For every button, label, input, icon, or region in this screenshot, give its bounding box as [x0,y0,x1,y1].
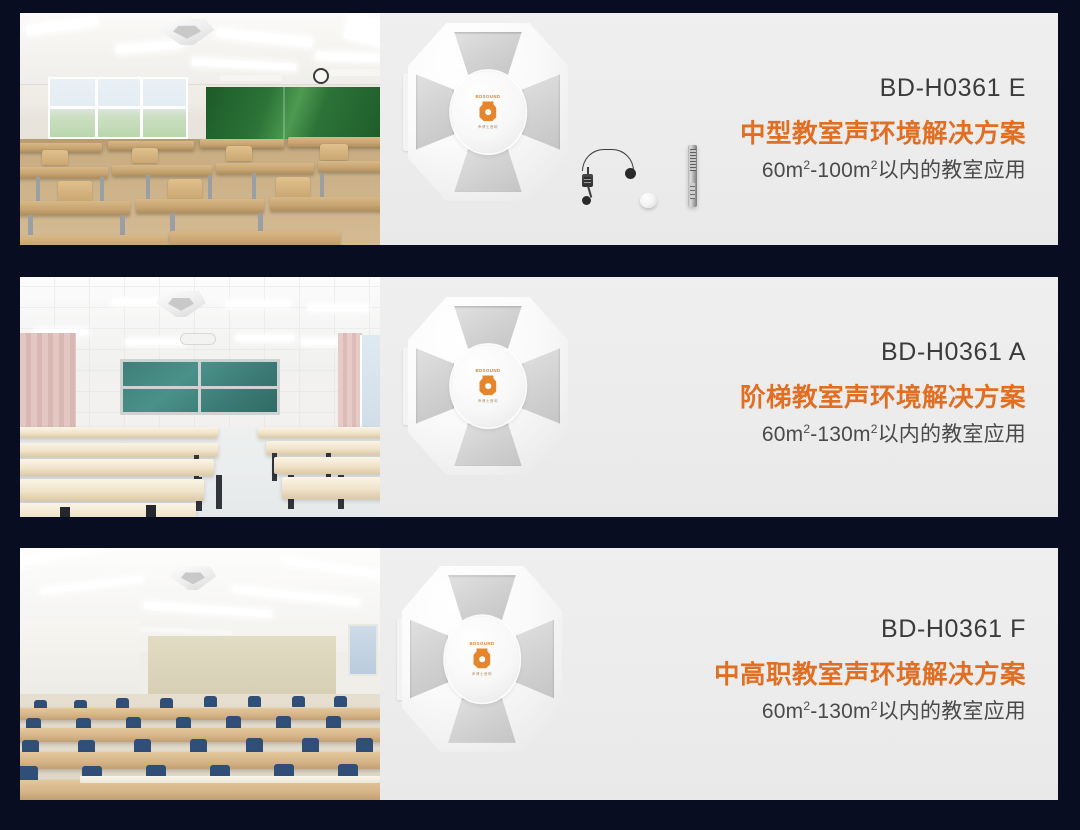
sup-4: 2 [871,422,878,436]
bdsound-speaker-product-e: BDSOUND 声博士音响 [408,23,568,201]
text-block-e: BD-H0361 E 中型教室声环境解决方案 60m2-100m2以内的教室应用 [740,75,1026,183]
speaker-center-badge: BDSOUND 声博士音响 [451,71,525,153]
area-to-a: -130m [810,423,871,446]
area-to-f: -130m [810,700,871,723]
product-card-panel-a[interactable]: BDSOUND 声博士音响 [20,277,1058,517]
headline-e: 中型教室声环境解决方案 [740,120,1026,149]
product-lineup-page: BDSOUND 声博士音响 BD-H0361 E 中型教室声环境解决方案 [0,0,1080,830]
brand-logo-sub: 声博士音响 [478,399,498,404]
model-number-e: BD-H0361 E [740,75,1026,103]
accessory-group-e [576,141,746,219]
area-from-a: 60m [762,423,803,446]
bdsound-speaker-product-a: BDSOUND 声博士音响 [408,297,568,475]
speaker-center-badge: BDSOUND 声博士音响 [451,345,525,427]
model-number-a: BD-H0361 A [740,339,1026,367]
area-from-e: 60m [762,159,803,182]
classroom-photo-auditorium [20,548,380,800]
subline-f: 60m2-130m2以内的教室应用 [714,699,1026,724]
product-card-panel-f[interactable]: BDSOUND 声博士音响 [20,548,1058,800]
bdsound-bell-logo-icon [480,102,497,122]
model-number-f: BD-H0361 F [714,616,1026,644]
handheld-wireless-microphone-icon [688,145,697,207]
brand-logo-text: BDSOUND [476,369,501,374]
brand-logo-text: BDSOUND [470,641,495,646]
headset-microphone-icon [576,147,638,193]
brand-logo-text: BDSOUND [476,95,501,100]
front-wall [148,636,336,698]
headline-f: 中高职教室声环境解决方案 [714,661,1026,690]
classroom-window [48,77,188,139]
area-suffix-f: 以内的教室应用 [878,700,1026,723]
ceiling-vent [180,333,216,345]
speaker-center-badge: BDSOUND 声博士音响 [445,616,519,702]
side-window [348,624,378,676]
bdsound-bell-logo-icon [480,376,497,396]
headline-a: 阶梯教室声环境解决方案 [740,384,1026,413]
bdsound-speaker-product-f: BDSOUND 声博士音响 [402,566,562,752]
panel-content-e: BDSOUND 声博士音响 BD-H0361 E 中型教室声环境解决方案 [380,13,1058,245]
area-to-e: -100m [810,159,871,182]
classroom-photo-ordinary [20,13,380,245]
teal-chalkboard [120,359,280,415]
green-chalkboard [206,85,380,143]
panel-content-f: BDSOUND 声博士音响 [380,548,1058,800]
area-from-f: 60m [762,700,803,723]
window-curtain-right [338,333,362,429]
product-card-panel-e[interactable]: BDSOUND 声博士音响 BD-H0361 E 中型教室声环境解决方案 [20,13,1058,245]
panel-content-a: BDSOUND 声博士音响 [380,277,1058,517]
sup-6: 2 [871,699,878,713]
wall-clock-icon [313,68,329,84]
subline-e: 60m2-100m2以内的教室应用 [740,158,1026,183]
classroom-photo-lecture-hall [20,277,380,517]
subline-a: 60m2-130m2以内的教室应用 [740,422,1026,447]
bdsound-bell-logo-icon [474,648,491,668]
text-block-a: BD-H0361 A 阶梯教室声环境解决方案 60m2-130m2以内的教室应用 [740,339,1026,447]
text-block-f: BD-H0361 F 中高职教室声环境解决方案 60m2-130m2以内的教室应… [714,616,1026,724]
side-window [360,335,380,439]
area-suffix-e: 以内的教室应用 [878,159,1026,182]
brand-logo-sub: 声博士音响 [478,125,498,130]
area-suffix-a: 以内的教室应用 [878,423,1026,446]
brand-logo-sub: 声博士音响 [472,671,492,676]
sup-2: 2 [871,158,878,172]
round-puck-sensor-icon [640,193,657,208]
